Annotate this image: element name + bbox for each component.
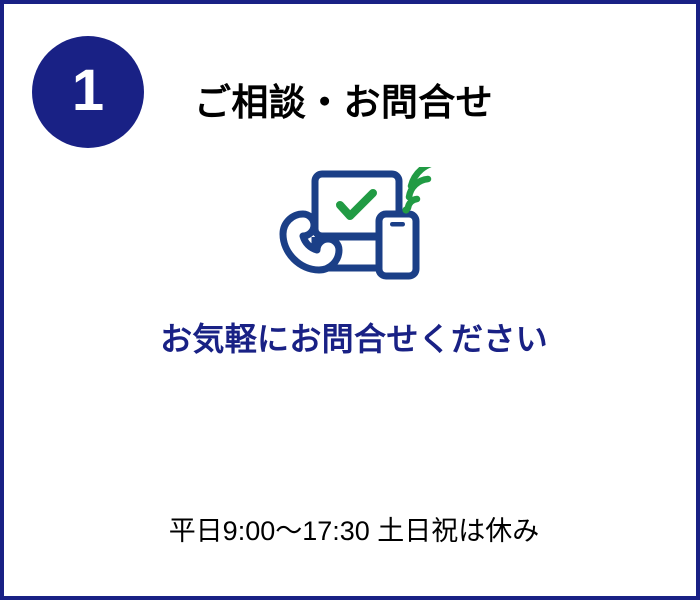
contact-step-card: 1 ご相談・お問合せ お気軽にお	[0, 0, 700, 600]
step-number-label: 1	[72, 62, 104, 120]
lead-heading: お気軽にお問合せください	[4, 314, 700, 360]
page-title: ご相談・お問合せ	[194, 72, 493, 126]
card-header: 1 ご相談・お問合せ	[4, 4, 700, 184]
wifi-signal-icon	[408, 167, 439, 208]
contact-devices-illustration	[270, 167, 440, 282]
business-hours-note: 平日9:00〜17:30 土日祝は休み	[4, 509, 700, 548]
illustration-svg	[270, 167, 440, 282]
smartphone-speaker	[390, 222, 405, 227]
step-number-badge: 1	[32, 36, 144, 148]
wifi-signal-dot	[402, 206, 409, 213]
